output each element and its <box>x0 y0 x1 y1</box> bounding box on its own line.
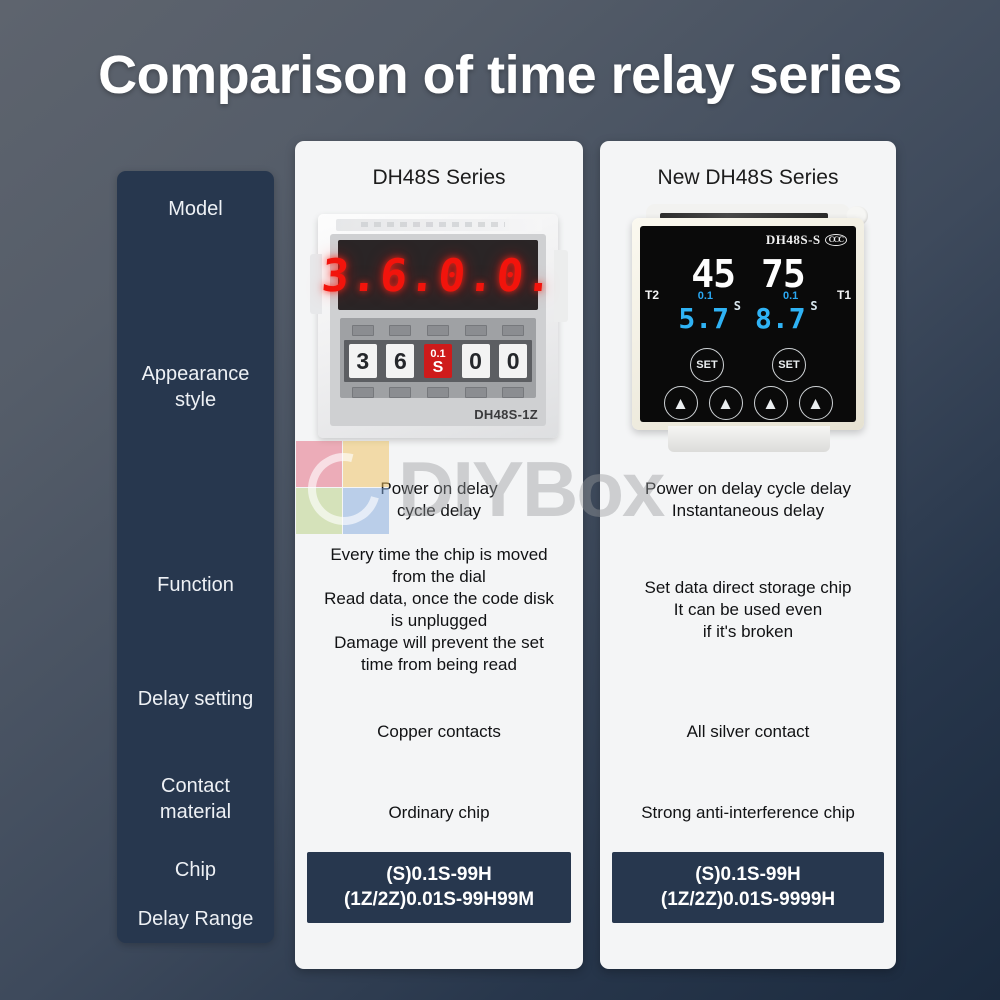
lcd-resolution-left: 0.1 <box>698 290 713 302</box>
led-display-panel: 3.6.0.0. <box>338 240 538 310</box>
dial-up-tab[interactable] <box>389 325 411 336</box>
relay-bezel-new: DH48S-S CCC T2 T1 45 75 0.1 0.1 <box>632 218 864 430</box>
delay-range-line1-old: (S)0.1S-99H <box>386 864 492 885</box>
dial-up-tab[interactable] <box>352 325 374 336</box>
lcd-value-right-small: 8.7 <box>755 302 806 335</box>
row-label-chip: Chip <box>117 845 274 897</box>
relay-body-new: DH48S-S CCC T2 T1 45 75 0.1 0.1 <box>624 204 872 456</box>
row-label-delay-setting: Delay setting <box>117 645 274 755</box>
dial-unit-symbol: S <box>433 360 444 376</box>
relay-body-old: 3.6.0.0. 3 6 0.1 S <box>318 214 558 438</box>
thumbwheel-dial-block[interactable]: 3 6 0.1 S 0 0 <box>340 318 536 398</box>
contact-material-text-old: Copper contacts <box>295 684 583 780</box>
delay-range-line2-new: (1Z/2Z)0.01S-9999H <box>661 889 835 910</box>
row-label-appearance-line2: style <box>175 389 216 411</box>
set-button-row: SET SET <box>640 348 856 382</box>
dial-unit-selector[interactable]: 0.1 S <box>424 344 452 378</box>
row-label-contact-line2: material <box>160 801 231 823</box>
comparison-card-old: DH48S Series 3.6.0.0. <box>295 141 583 969</box>
chip-text-new: Strong anti-interference chip <box>600 780 896 846</box>
dial-down-tab[interactable] <box>352 387 374 398</box>
device-model-mark-old: DH48S-1Z <box>474 407 538 422</box>
delay-line6-old: time from being read <box>361 655 517 674</box>
top-label-strip <box>336 219 542 231</box>
function-text-new: Power on delay cycle delay Instantaneous… <box>600 464 896 536</box>
row-label-contact-material: Contact material <box>117 755 274 845</box>
lcd-value-right-small-group: 8.7 S <box>755 302 818 335</box>
dial-down-tab[interactable] <box>389 387 411 398</box>
row-label-delay-range: Delay Range <box>117 897 274 943</box>
card-title-old: DH48S Series <box>295 166 583 190</box>
contact-material-text-new: All silver contact <box>600 684 896 780</box>
delay-line1-new: Set data direct storage chip <box>645 578 852 597</box>
chevron-up-icon-1[interactable]: ▲ <box>664 386 698 420</box>
delay-line2-new: It can be used even <box>674 600 822 619</box>
dial-digit-row: 3 6 0.1 S 0 0 <box>344 340 532 382</box>
set-button-t1[interactable]: SET <box>772 348 806 382</box>
bottom-mounting-bracket <box>668 426 830 452</box>
set-button-t2[interactable]: SET <box>690 348 724 382</box>
page-title: Comparison of time relay series <box>0 44 1000 106</box>
row-label-function: Function <box>117 527 274 645</box>
dial-down-tab[interactable] <box>502 387 524 398</box>
delay-setting-text-old: Every time the chip is moved from the di… <box>295 536 583 684</box>
row-label-appearance-line1: Appearance <box>142 363 250 385</box>
delay-range-line1-new: (S)0.1S-99H <box>695 864 801 885</box>
dial-down-tab[interactable] <box>427 387 449 398</box>
dial-digit[interactable]: 3 <box>349 344 377 378</box>
delay-line2-old: from the dial <box>392 567 486 586</box>
function-line2-old: cycle delay <box>397 501 481 520</box>
comparison-card-new: New DH48S Series DH48S-S CCC T2 T1 45 75 <box>600 141 896 969</box>
dial-up-tab[interactable] <box>502 325 524 336</box>
dial-digit[interactable]: 0 <box>499 344 527 378</box>
lcd-value-left-small-group: 5.7 S <box>678 302 741 335</box>
lcd-resolution-row: 0.1 0.1 <box>640 290 856 302</box>
function-line1-old: Power on delay <box>380 479 497 498</box>
function-text-old: Power on delay cycle delay <box>295 464 583 536</box>
function-line1-new: Power on delay cycle delay <box>645 479 851 498</box>
delay-range-line2-old: (1Z/2Z)0.01S-99H99M <box>344 889 534 910</box>
device-image-old: 3.6.0.0. 3 6 0.1 S <box>295 196 583 464</box>
device-brand-mark-new: DH48S-S CCC <box>766 232 847 248</box>
dial-up-tab[interactable] <box>427 325 449 336</box>
function-line2-new: Instantaneous delay <box>672 501 824 520</box>
lcd-screen: DH48S-S CCC T2 T1 45 75 0.1 0.1 <box>640 226 856 422</box>
delay-setting-text-new: Set data direct storage chip It can be u… <box>600 536 896 684</box>
dial-digit[interactable]: 0 <box>462 344 490 378</box>
dial-up-tab-row[interactable] <box>344 322 532 338</box>
chip-text-old: Ordinary chip <box>295 780 583 846</box>
row-label-model: Model <box>117 171 274 249</box>
delay-range-badge-new: (S)0.1S-99H (1Z/2Z)0.01S-9999H <box>612 852 884 923</box>
dial-down-tab-row[interactable] <box>344 384 532 400</box>
lcd-resolution-right: 0.1 <box>783 290 798 302</box>
led-display-value: 3.6.0.0. <box>319 249 556 302</box>
chevron-up-icon-3[interactable]: ▲ <box>754 386 788 420</box>
row-label-appearance-style: Appearance style <box>117 249 274 527</box>
dial-down-tab[interactable] <box>465 387 487 398</box>
chevron-up-icon-2[interactable]: ▲ <box>709 386 743 420</box>
dial-up-tab[interactable] <box>465 325 487 336</box>
device-image-new: DH48S-S CCC T2 T1 45 75 0.1 0.1 <box>600 196 896 464</box>
lcd-value-left-small: 5.7 <box>678 302 729 335</box>
chevron-up-icon-4[interactable]: ▲ <box>799 386 833 420</box>
lcd-unit-right: S <box>810 299 817 313</box>
delay-line5-old: Damage will prevent the set <box>334 633 544 652</box>
card-title-new: New DH48S Series <box>600 166 896 190</box>
delay-line3-old: Read data, once the code disk <box>324 589 554 608</box>
delay-line1-old: Every time the chip is moved <box>330 545 547 564</box>
dial-digit[interactable]: 6 <box>386 344 414 378</box>
row-label-column: Model Appearance style Function Delay se… <box>117 171 274 943</box>
relay-faceplate-old: 3.6.0.0. 3 6 0.1 S <box>330 234 546 426</box>
row-label-contact-line1: Contact <box>161 775 230 797</box>
lcd-unit-left: S <box>734 299 741 313</box>
device-brand-text: DH48S-S <box>766 232 821 248</box>
arrow-button-row: ▲ ▲ ▲ ▲ <box>640 386 856 420</box>
lcd-secondary-values: 5.7 S 8.7 S <box>640 302 856 335</box>
delay-line4-old: is unplugged <box>391 611 487 630</box>
ccc-certification-icon: CCC <box>825 234 847 246</box>
delay-range-badge-old: (S)0.1S-99H (1Z/2Z)0.01S-99H99M <box>307 852 571 923</box>
delay-line3-new: if it's broken <box>703 622 793 641</box>
